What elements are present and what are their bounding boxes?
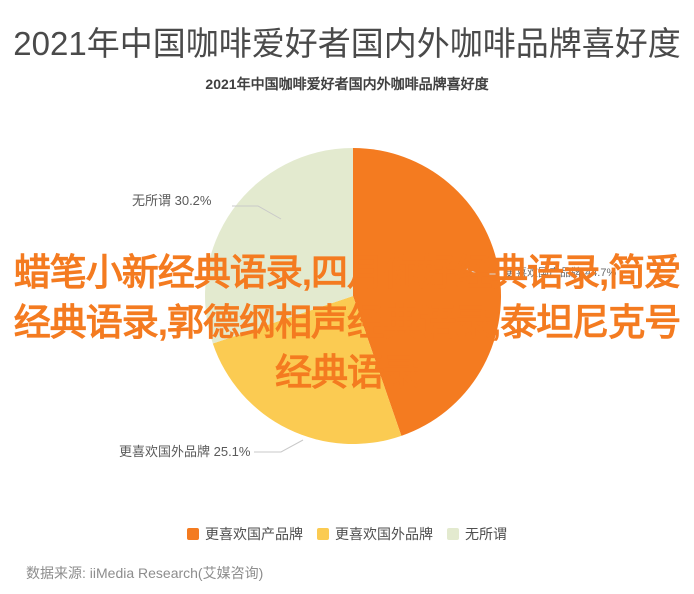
pie-slice-group <box>205 148 501 444</box>
legend-item-foreign-brand[interactable]: 更喜欢国外品牌 <box>317 525 433 543</box>
legend-swatch-icon <box>447 528 459 540</box>
pie-chart <box>0 0 694 594</box>
legend-swatch-icon <box>187 528 199 540</box>
pie-chart-svg <box>0 0 694 594</box>
legend-item-no-preference[interactable]: 无所谓 <box>447 525 507 543</box>
legend-item-domestic-brand[interactable]: 更喜欢国产品牌 <box>187 525 303 543</box>
slice-label-domestic-brand: 更喜欢国产品牌 44.7% <box>505 265 616 282</box>
legend-label: 更喜欢国外品牌 <box>335 525 433 543</box>
legend-swatch-icon <box>317 528 329 540</box>
slice-label-foreign-brand: 更喜欢国外品牌 25.1% <box>119 443 250 460</box>
legend-label: 更喜欢国产品牌 <box>205 525 303 543</box>
legend-label: 无所谓 <box>465 525 507 543</box>
chart-page: 2021年中国咖啡爱好者国内外咖啡品牌喜好度 2021年中国咖啡爱好者国内外咖啡… <box>0 0 694 594</box>
chart-legend: 更喜欢国产品牌 更喜欢国外品牌 无所谓 <box>0 525 694 543</box>
source-note: 数据来源: iiMedia Research(艾媒咨询) <box>26 563 263 583</box>
leader-line-yellow <box>254 440 303 452</box>
slice-label-no-preference: 无所谓 30.2% <box>132 192 211 209</box>
